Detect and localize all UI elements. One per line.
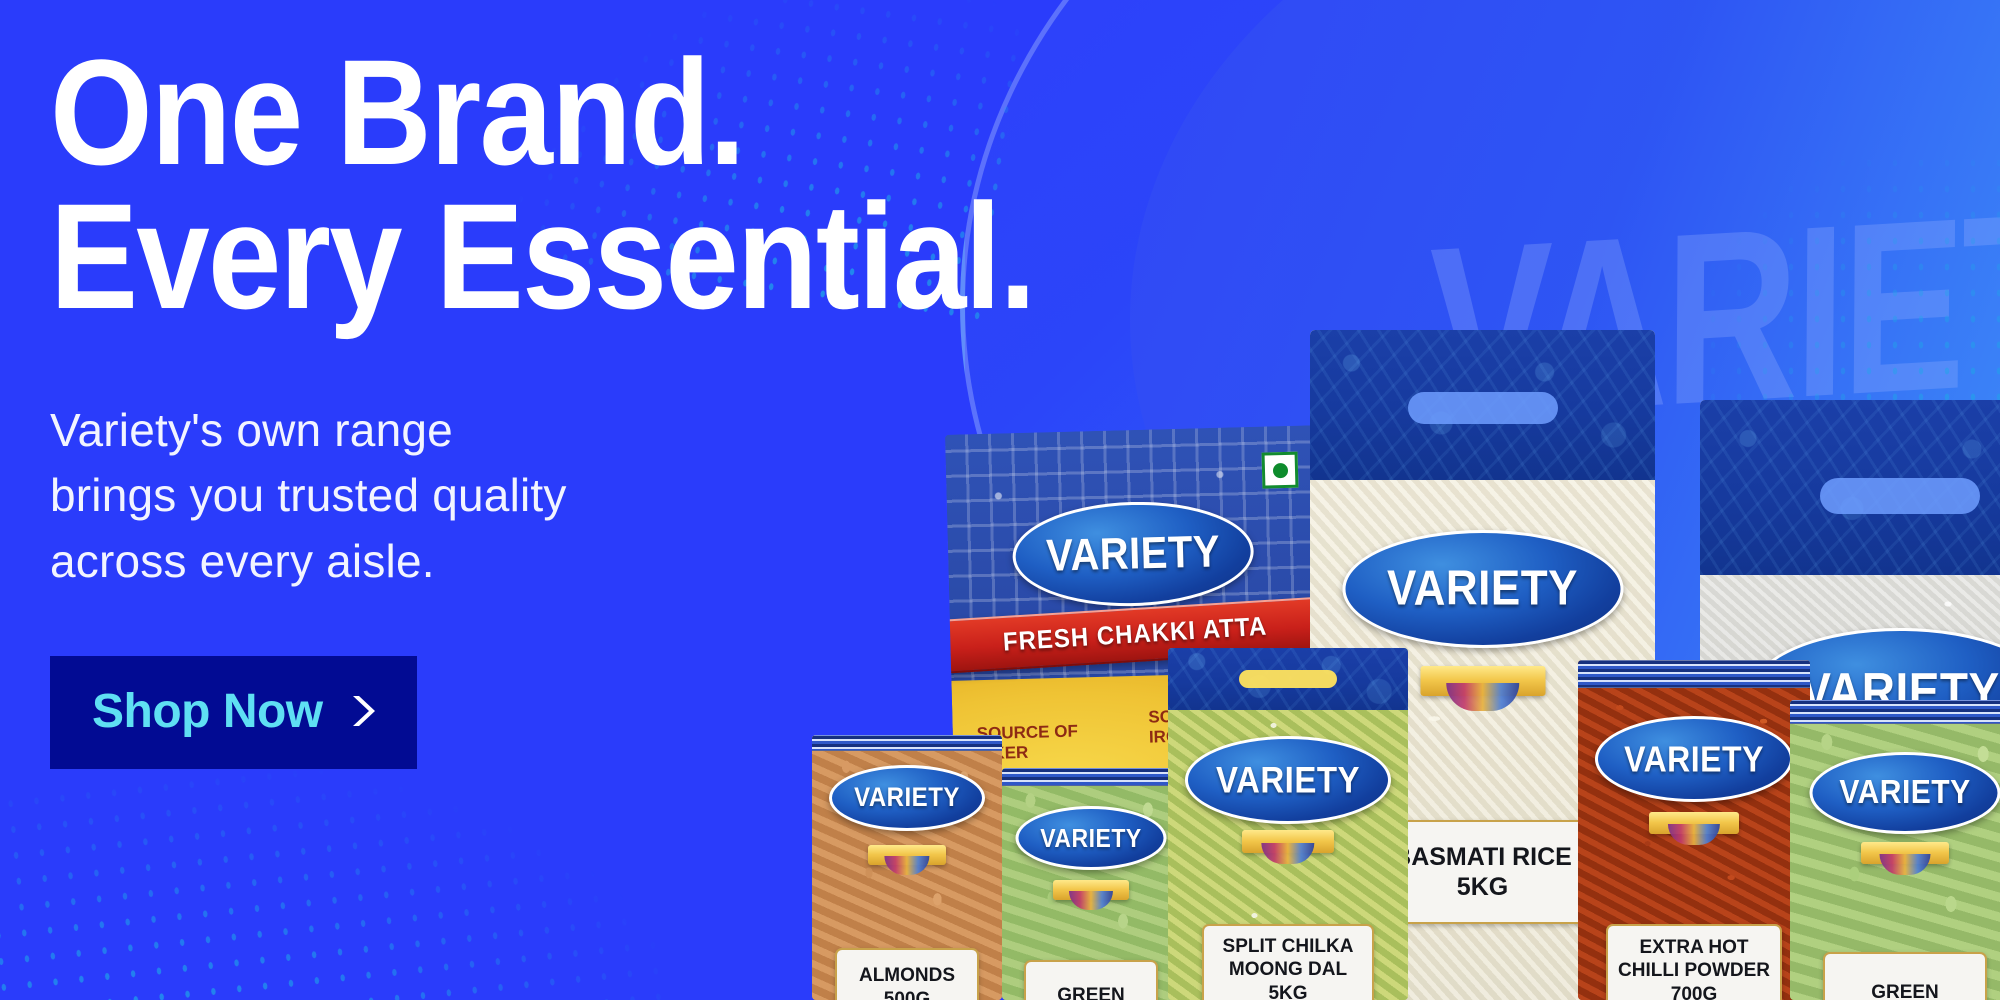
pack-ribbon-chilli-powder — [1649, 812, 1739, 834]
promo-banner: VARIETY VARIETY — [0, 0, 2000, 1000]
product-pack-chilli-powder[interactable]: VARIETY EXTRA HOT CHILLI POWDER 700G — [1578, 660, 1810, 1000]
pack-ribbon-basmati-rice — [1420, 666, 1545, 696]
shop-now-button[interactable]: Shop Now — [50, 656, 417, 769]
pack-logo-green-cardamom-right: VARIETY — [1810, 752, 2000, 834]
pack-ribbon-moong-dal — [1242, 830, 1334, 853]
pack-logo-basmati-rice: VARIETY — [1342, 530, 1623, 648]
product-pack-almonds[interactable]: VARIETY ALMONDS 500G — [812, 735, 1002, 1000]
pack-logo-green-cardamom-left: VARIETY — [1016, 806, 1167, 870]
shop-now-label: Shop Now — [92, 684, 323, 739]
pack-name-label-basmati-rice: BASMATI RICE 5KG — [1381, 820, 1585, 924]
product-pack-green-cardamom-right[interactable]: VARIETY GREEN — [1790, 700, 2000, 1000]
pack-ribbon-green-cardamom-left — [1053, 880, 1129, 900]
subcopy-line-1: Variety's own range — [50, 398, 1350, 463]
subcopy-line-2: brings you trusted quality — [50, 463, 1350, 528]
page-title: One Brand. Every Essential. — [50, 40, 1194, 328]
banner-copy-block: One Brand. Every Essential. Variety's ow… — [50, 40, 1350, 769]
pack-logo-almonds: VARIETY — [829, 765, 985, 831]
banner-subcopy: Variety's own range brings you trusted q… — [50, 398, 1350, 594]
pack-ribbon-almonds — [868, 845, 946, 865]
pack-ribbon-green-cardamom-right — [1861, 842, 1949, 864]
pack-name-label-chilli-powder: EXTRA HOT CHILLI POWDER 700G — [1606, 924, 1782, 1000]
pack-logo-chilli-powder: VARIETY — [1595, 716, 1793, 802]
subcopy-line-3: across every aisle. — [50, 529, 1350, 594]
pack-name-label-moong-dal: SPLIT CHILKA MOONG DAL 5KG — [1202, 924, 1374, 1000]
headline-line-2: Every Essential. — [50, 184, 1194, 328]
pack-name-label-green-cardamom-right: GREEN — [1823, 952, 1987, 1000]
pack-name-label-green-cardamom-left: GREEN — [1024, 960, 1158, 1000]
pack-name-label-almonds: ALMONDS 500G — [835, 948, 979, 1000]
product-pack-green-cardamom-left[interactable]: VARIETY GREEN — [1002, 768, 1180, 1000]
headline-line-1: One Brand. — [50, 28, 744, 196]
chevron-right-icon — [349, 693, 375, 729]
